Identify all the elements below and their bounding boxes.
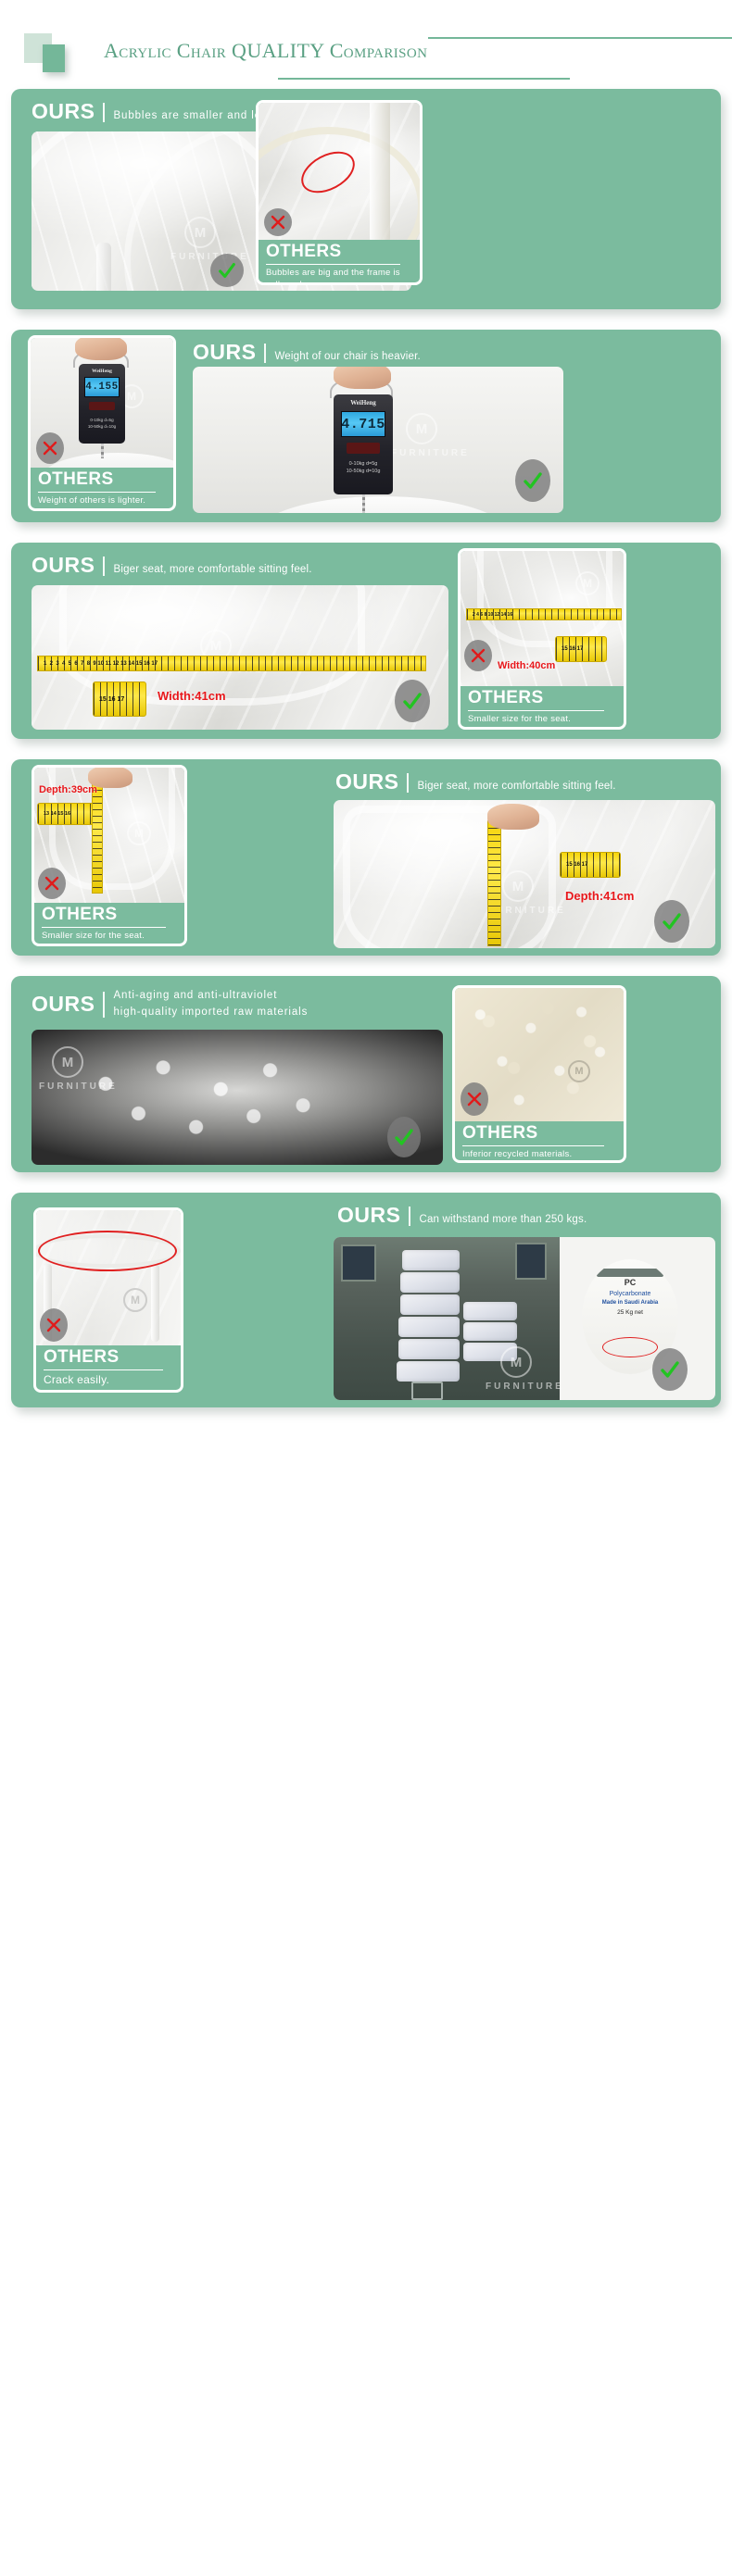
ours-photo-strength: M FURNITURE PC Polycarbonate Made in Sau… bbox=[334, 1237, 715, 1400]
ours-description-line2: high-quality imported raw materials bbox=[113, 1005, 308, 1021]
tape-measure-detail-others: 15 16 17 bbox=[555, 636, 607, 662]
others-rule bbox=[42, 927, 166, 929]
measurement-others-width: Width:40cm bbox=[498, 660, 555, 671]
header-rule-top bbox=[428, 37, 732, 39]
others-photo-bubbles bbox=[259, 103, 420, 240]
scale-brand-label: WeiHeng bbox=[334, 399, 393, 406]
others-title: OTHERS bbox=[462, 1124, 616, 1143]
measurement-others-depth: Depth:39cm bbox=[39, 784, 97, 795]
others-card-depth: Depth:39cm 13 14 15 16 M OTHERS Smaller … bbox=[32, 765, 187, 946]
others-description: Smaller size for the seat. bbox=[468, 714, 616, 725]
infographic-page: ACRYLIC CHAIR QUALITY COMPARISON OURS Bu… bbox=[0, 15, 732, 1407]
cross-mark-icon bbox=[38, 868, 66, 899]
panel-material: OURS Anti-aging and anti-ultraviolet hig… bbox=[11, 976, 721, 1172]
pc-net-weight: 25 Kg net bbox=[617, 1309, 643, 1316]
ours-description: Bubbles are smaller and less. bbox=[113, 108, 277, 125]
others-photo-strength: M bbox=[36, 1210, 181, 1345]
tape-measure-others-depth bbox=[92, 782, 103, 894]
panel-width: OURS Biger seat, more comfortable sittin… bbox=[11, 543, 721, 739]
ours-label: OURS bbox=[32, 994, 95, 1015]
ours-divider bbox=[103, 103, 105, 122]
watermark-logo: M bbox=[123, 1288, 147, 1312]
ours-photo-material: M FURNITURE bbox=[32, 1030, 443, 1165]
tape-measure-detail-ours: 15 16 17 bbox=[93, 682, 146, 717]
page-header: ACRYLIC CHAIR QUALITY COMPARISON bbox=[0, 15, 732, 80]
scale-spec-line1: 0-10kg d=5g bbox=[79, 418, 125, 423]
cross-mark-icon bbox=[461, 1082, 488, 1116]
others-label-depth: OTHERS Smaller size for the seat. bbox=[34, 903, 184, 946]
pc-code: PC bbox=[625, 1278, 637, 1287]
ours-label: OURS bbox=[335, 771, 398, 793]
stacked-bag bbox=[400, 1272, 460, 1293]
ours-label: OURS bbox=[193, 342, 256, 363]
others-card-weight: WeiHeng 4.155 0-10kg d=5g 10-50kg d=10g … bbox=[28, 335, 176, 511]
ours-description-line1: Anti-aging and anti-ultraviolet bbox=[113, 988, 308, 1005]
ours-label: OURS bbox=[32, 555, 95, 576]
stacked-bag bbox=[463, 1343, 517, 1361]
check-mark-icon-strength bbox=[652, 1348, 688, 1391]
measurement-ours-depth: Depth:41cm bbox=[565, 889, 634, 903]
ours-divider bbox=[103, 992, 105, 1018]
others-title: OTHERS bbox=[44, 1348, 173, 1367]
ours-photo-weight: WeiHeng 4.715 0-10kg d=5g 10-50kg d=10g … bbox=[193, 367, 563, 513]
scale-display-ours: 4.715 bbox=[341, 411, 385, 437]
others-rule bbox=[462, 1145, 604, 1147]
stacked-bag bbox=[398, 1339, 460, 1359]
others-photo-material: M bbox=[455, 988, 624, 1121]
scale-reading-ours: 4.715 bbox=[341, 417, 385, 432]
others-title: OTHERS bbox=[468, 689, 616, 707]
check-mark-icon-bubbles bbox=[210, 254, 244, 287]
pc-label-bar bbox=[597, 1269, 664, 1277]
others-label-strength: OTHERS Crack easily. bbox=[36, 1345, 181, 1393]
cross-mark-icon bbox=[36, 432, 64, 464]
ours-photo-width: 1 2 3 4 5 6 7 8 9 10 11 12 13 14 15 16 1… bbox=[32, 585, 448, 730]
others-photo-width: 2 4 6 8 10 12 14 16 15 16 17 Width:40cm … bbox=[461, 551, 624, 686]
cross-mark-icon bbox=[264, 208, 292, 236]
panel-depth: OURS Biger seat, more comfortable sittin… bbox=[11, 759, 721, 956]
scale-reading-others: 4.155 bbox=[85, 381, 119, 393]
pc-material-name: Polycarbonate bbox=[610, 1291, 651, 1297]
tape-measure-ours: 1 2 3 4 5 6 7 8 9 10 11 12 13 14 15 16 1… bbox=[37, 656, 426, 671]
pc-origin: Made in Saudi Arabia bbox=[602, 1300, 658, 1306]
panel-strength: OURS Can withstand more than 250 kgs. M … bbox=[11, 1193, 721, 1407]
others-title: OTHERS bbox=[38, 470, 166, 489]
others-photo-depth: Depth:39cm 13 14 15 16 M bbox=[34, 768, 184, 903]
check-mark-icon-width bbox=[395, 680, 430, 722]
stacked-bag bbox=[397, 1361, 460, 1382]
others-description: Bubbles are big and the frame is yellowe… bbox=[266, 268, 412, 285]
ours-divider bbox=[264, 344, 266, 363]
others-rule bbox=[468, 710, 604, 712]
others-description: Smaller size for the seat. bbox=[42, 931, 177, 942]
others-label-bubbles: OTHERS Bubbles are big and the frame is … bbox=[259, 240, 420, 285]
others-label-width: OTHERS Smaller size for the seat. bbox=[461, 686, 624, 730]
check-mark-icon-weight bbox=[515, 459, 550, 502]
tape-measure-detail-ours-depth: 15 16 17 bbox=[560, 852, 621, 878]
check-mark-icon-material bbox=[387, 1117, 421, 1157]
ours-divider bbox=[103, 556, 105, 576]
ours-description: Biger seat, more comfortable sitting fee… bbox=[113, 562, 311, 579]
digital-scale-ours: WeiHeng 4.715 0-10kg d=5g 10-50kg d=10g bbox=[334, 394, 393, 494]
header-decor-square-dark bbox=[43, 44, 65, 72]
ours-divider bbox=[409, 1207, 410, 1226]
ours-description-block: Anti-aging and anti-ultraviolet high-qua… bbox=[113, 988, 308, 1020]
cross-mark-icon bbox=[464, 640, 492, 671]
hand-holding-tape bbox=[487, 804, 539, 830]
ours-description: Weight of our chair is heavier. bbox=[274, 349, 420, 366]
digital-scale-others: WeiHeng 4.155 0-10kg d=5g 10-50kg d=10g bbox=[79, 364, 125, 444]
ours-label: OURS bbox=[32, 101, 95, 122]
others-title: OTHERS bbox=[42, 906, 177, 924]
scale-spec-line2: 10-50kg d=10g bbox=[334, 469, 393, 476]
scale-spec-line1: 0-10kg d=5g bbox=[334, 461, 393, 469]
others-photo-weight: WeiHeng 4.155 0-10kg d=5g 10-50kg d=10g … bbox=[31, 338, 173, 468]
pc-weight-highlight bbox=[602, 1337, 658, 1357]
panel-weight: OURS Weight of our chair is heavier. Wei… bbox=[11, 330, 721, 522]
scale-display-others: 4.155 bbox=[84, 377, 120, 397]
others-rule bbox=[38, 492, 156, 494]
others-rule bbox=[44, 1369, 163, 1371]
ours-label: OURS bbox=[337, 1205, 400, 1226]
scale-brand-label: WeiHeng bbox=[79, 369, 125, 374]
tape-measure-others: 2 4 6 8 10 12 14 16 bbox=[466, 608, 622, 620]
measurement-ours-width: Width:41cm bbox=[158, 689, 226, 703]
others-card-material: M OTHERS Inferior recycled materials. bbox=[452, 985, 626, 1163]
ours-photo-depth: 15 16 17 Depth:41cm M FURNITURE bbox=[334, 800, 715, 948]
others-description: Weight of others is lighter. bbox=[38, 495, 166, 506]
others-description: Inferior recycled materials. bbox=[462, 1149, 616, 1160]
stacked-bag bbox=[402, 1250, 460, 1270]
others-description: Crack easily. bbox=[44, 1373, 173, 1388]
others-label-material: OTHERS Inferior recycled materials. bbox=[455, 1121, 624, 1163]
others-card-strength: M OTHERS Crack easily. bbox=[33, 1207, 183, 1393]
header-rule-bottom bbox=[278, 78, 570, 80]
tape-measure-detail-others-depth: 13 14 15 16 bbox=[37, 803, 95, 825]
stacked-bag bbox=[398, 1317, 460, 1337]
ours-divider bbox=[407, 773, 409, 793]
others-title: OTHERS bbox=[266, 243, 412, 261]
hand-holding-scale bbox=[334, 367, 391, 389]
stacked-bag bbox=[400, 1294, 460, 1315]
page-title: ACRYLIC CHAIR QUALITY COMPARISON bbox=[104, 39, 427, 63]
ours-description: Biger seat, more comfortable sitting fee… bbox=[417, 779, 615, 795]
panel-bubbles: OURS Bubbles are smaller and less. M FUR… bbox=[11, 89, 721, 309]
others-card-bubbles: OTHERS Bubbles are big and the frame is … bbox=[256, 100, 423, 285]
check-mark-icon-depth bbox=[654, 900, 689, 943]
ours-description: Can withstand more than 250 kgs. bbox=[419, 1212, 587, 1229]
scale-spec-line2: 10-50kg d=10g bbox=[79, 424, 125, 430]
others-card-width: 2 4 6 8 10 12 14 16 15 16 17 Width:40cm … bbox=[458, 548, 626, 730]
watermark-text: FURNITURE bbox=[391, 448, 470, 458]
stacked-bag bbox=[463, 1322, 517, 1341]
tape-measure-ours-depth bbox=[487, 820, 501, 946]
crack-highlight-ellipse bbox=[38, 1231, 177, 1271]
cross-mark-icon bbox=[40, 1308, 68, 1342]
stacked-bag bbox=[463, 1302, 517, 1320]
others-rule bbox=[266, 264, 400, 266]
hand-holding-scale bbox=[75, 338, 127, 360]
watermark-logo: M bbox=[406, 413, 437, 444]
others-label-weight: OTHERS Weight of others is lighter. bbox=[31, 468, 173, 511]
